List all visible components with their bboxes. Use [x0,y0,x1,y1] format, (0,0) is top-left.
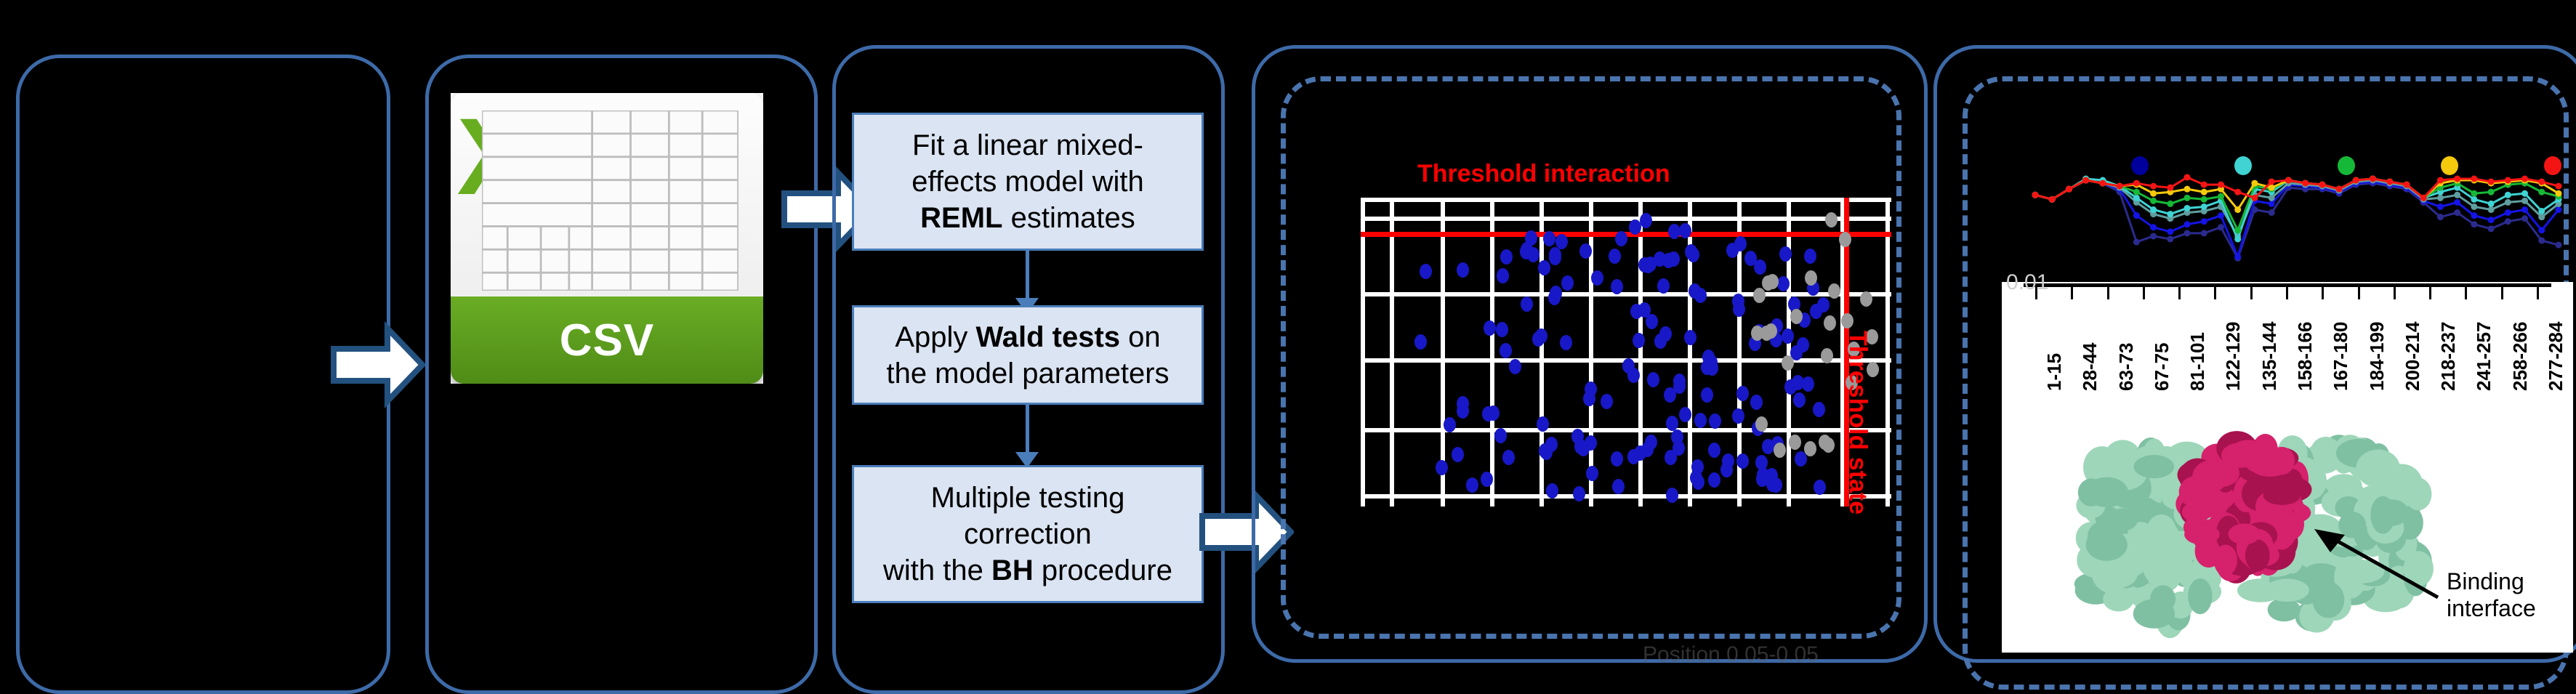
protein-surface-lump [2228,524,2260,545]
gridline-vertical [1490,198,1494,507]
protein-surface-lump [2086,529,2128,561]
peptide-marker [2234,235,2241,242]
peptide-marker [2133,189,2140,195]
step-wald-tests-text: Apply Wald tests on the model parameters [886,319,1169,392]
peptide-marker [2201,189,2207,195]
binding-interface-label: Binding interface [2447,568,2536,622]
csv-label: CSV [560,315,654,366]
figure-canvas: X [0,0,2576,687]
peptide-marker [2471,196,2477,203]
scatter-point [1482,406,1494,421]
scatter-point [1535,328,1547,344]
scatter-point [1708,472,1720,488]
scatter-point [1521,296,1533,312]
scatter-point [1466,477,1478,493]
scatter-point [1457,262,1469,278]
scatter-point [1664,387,1676,403]
protein-surface-lump [2134,455,2174,478]
peptide-marker [2133,195,2140,201]
peptide-marker [2234,189,2241,195]
peptide-tick [2071,286,2073,299]
scatter-point [1825,212,1838,227]
step-fit-model-text: Fit a linear mixed- effects model with R… [911,127,1143,236]
legend-dot-series-yellow [2441,156,2458,175]
protein-surface-lump [2108,508,2138,530]
scatter-point [1755,416,1768,432]
step-wald-tests-box: Apply Wald tests on the model parameters [852,305,1204,405]
peptide-marker [2066,186,2072,193]
peptide-marker [2184,230,2191,236]
peptide-tick [2465,286,2467,299]
protein-surface-lump [2184,524,2220,544]
scatter-point [1709,413,1721,429]
peptide-tick [2178,286,2181,299]
scatter-point [1782,328,1794,344]
scatter-point [1436,460,1448,475]
peptide-marker [2133,239,2140,246]
peptide-marker [2538,214,2545,220]
peptide-marker [2454,209,2460,216]
scatter-point [1701,360,1713,375]
scatter-point [1797,337,1809,352]
peptide-marker [2184,205,2191,211]
protein-surface-lump [2269,447,2295,475]
scatter-point [1692,475,1704,490]
peptide-tick [2322,286,2324,299]
scatter-point [1708,443,1720,458]
scatter-point [1633,333,1645,348]
protein-surface-lump [2192,461,2228,493]
legend-dot-series-navy [2131,156,2149,175]
scatter-plot: Position 0.05-0.05 [1361,198,1891,507]
peptide-marker [2167,211,2173,217]
peptide-marker [2049,196,2056,203]
connector-1 [1026,251,1029,303]
peptide-tick-label: 67-75 [2151,343,2173,392]
peptide-marker [2538,208,2545,214]
peptide-tick [2537,286,2539,299]
scatter-point [1793,392,1806,408]
legend-dot-series-green [2338,156,2355,175]
peptide-marker [2521,215,2528,222]
scatter-point [1500,343,1512,358]
spreadsheet-grid-icon [482,110,738,291]
peptide-tick-label: 81-101 [2186,332,2209,391]
peptide-marker [2454,199,2460,206]
gridline-vertical [1589,198,1593,507]
peptide-marker [2218,212,2224,219]
peptide-marker [2437,195,2444,201]
scatter-point [1549,247,1561,262]
peptide-tick-label: 135-144 [2258,322,2281,391]
protein-surface-lump [2147,530,2188,561]
scatter-point [1612,479,1625,494]
peptide-tick [2143,286,2145,299]
scatter-point [1537,416,1549,432]
scatter-point [1804,441,1816,456]
scatter-point [1668,224,1681,239]
scatter-point [1657,278,1670,294]
scatter-point [1509,359,1521,374]
peptide-marker [2234,254,2241,260]
protein-structure-image: Binding interface [2002,407,2573,653]
peptide-marker [2437,203,2444,210]
peptide-marker [2150,190,2157,197]
scatter-point [1744,251,1757,266]
scatter-point [1627,368,1640,383]
peptide-tick [2358,286,2360,299]
peptide-marker [2201,203,2207,210]
peptide-tick-label: 241-257 [2473,322,2495,391]
binding-interface-line1: Binding [2447,568,2536,595]
scatter-point [1586,466,1598,481]
protein-surface-lump [2245,539,2270,571]
scatter-point [1561,275,1574,291]
arrow-into-input [331,321,425,408]
peptide-marker [2218,224,2224,230]
scatter-point [1689,283,1701,299]
scatter-point [1496,322,1508,337]
peptide-tick-label: 28-44 [2079,343,2101,392]
csv-icon: X [451,93,763,384]
scatter-point [1583,391,1595,406]
scatter-point [1638,302,1651,318]
peptide-tick-label: 277-284 [2545,322,2567,391]
protein-surface-lump [2103,587,2134,611]
protein-surface-lump [2312,581,2344,618]
scatter-point [1611,451,1623,467]
scatter-point [1647,372,1659,387]
scatter-point [1543,231,1555,246]
connector-2 [1026,405,1029,457]
scatter-point [1687,247,1699,262]
peptide-marker [2556,190,2562,197]
scatter-point [1736,386,1749,401]
peptide-y-axis-value: 0.01 [2006,270,2048,295]
legend-dot-series-cyan [2234,156,2252,175]
peptide-marker [2201,196,2207,203]
peptide-tick [2107,286,2109,299]
peptide-marker [2437,214,2444,220]
peptide-marker [2556,242,2562,249]
step-multiple-testing-text: Multiple testing correction with the BH … [883,480,1172,589]
scatter-point [1666,416,1678,431]
peptide-marker [2184,195,2191,201]
gridline-vertical [1390,198,1394,507]
peptide-tick-label: 1-15 [2043,353,2066,391]
peptide-marker [2251,195,2258,201]
scatter-point [1615,231,1627,246]
scatter-point [1860,291,1872,307]
scatter-point [1579,243,1592,259]
scatter-point [1839,232,1851,247]
scatter-point [1497,268,1509,283]
peptide-tick-label: 63-73 [2115,343,2138,392]
scatter-point [1792,375,1804,390]
scatter-point [1573,486,1585,501]
scatter-point [1609,249,1621,264]
peptide-tick-label: 200-214 [2402,322,2424,391]
peptide-marker [2201,218,2207,225]
scatter-point [1821,348,1833,363]
peptide-marker [2032,192,2039,198]
scatter-point [1684,330,1696,345]
peptide-marker [2556,206,2562,213]
scatter-point [1452,447,1464,462]
peptide-marker [2471,221,2477,227]
peptide-marker [2471,190,2477,197]
protein-surface-lump [2188,578,2212,614]
scatter-point [1802,376,1814,392]
protein-surface-lump [2265,578,2309,602]
scatter-point [1841,313,1853,328]
peptide-marker [2150,198,2157,204]
peptide-tick-label: 167-180 [2330,322,2352,391]
peptide-series-blue [2035,180,2559,257]
peptide-marker [2184,186,2191,193]
peptide-marker [2488,201,2495,207]
peptide-marker [2167,228,2173,235]
peptide-marker [2488,189,2495,195]
scatter-point [1774,443,1786,458]
scatter-point [1732,408,1744,424]
scatter-point [1790,309,1803,324]
scatter-point [1591,270,1603,286]
peptide-tick-label: 258-266 [2509,322,2532,391]
scatter-point [1525,230,1537,246]
scatter-point [1828,283,1840,299]
peptide-marker [2538,189,2545,195]
scatter-point [1734,236,1747,251]
scatter-point [1502,450,1515,465]
scatter-point [1481,472,1493,487]
peptide-tick [2286,286,2288,299]
peptide-marker [2488,206,2495,213]
scatter-point [1560,335,1572,350]
threshold-state-label: Threshold state [1843,331,1872,515]
scatter-point [1500,249,1513,265]
scatter-point [1627,449,1640,464]
peptide-marker [2505,192,2511,198]
scatter-point [1577,441,1590,456]
scatter-point [1640,213,1652,228]
peptide-marker [2538,238,2545,244]
peptide-marker [2420,195,2427,201]
scatter-point [1667,251,1680,267]
peptide-marker [2167,235,2173,242]
peptide-marker [2521,206,2528,213]
peptide-marker [2133,212,2140,219]
peptide-tick-label: 122-129 [2222,322,2245,391]
peptide-marker [2184,221,2191,227]
scatter-point [1805,270,1817,286]
peptide-marker [2269,195,2275,201]
binding-interface-line2: interface [2447,595,2536,622]
peptide-tick-label: 158-166 [2294,322,2317,391]
peptide-marker [2234,227,2241,233]
peptide-marker [2167,185,2173,191]
protein-surface-lump [2133,599,2175,628]
scatter-point [1673,440,1685,456]
peptide-tick [2250,286,2253,299]
peptide-tick [2429,286,2431,299]
peptide-marker [2521,198,2528,204]
scatter-point [1659,326,1672,342]
scatter-point [1722,453,1734,469]
scatter-point [1777,276,1790,291]
protein-surface-lump [2214,544,2237,576]
protein-surface-lump [2356,449,2400,487]
peptide-marker [2234,206,2241,213]
obscured-annotation: Position 0.05-0.05 [1643,642,1819,667]
peptide-marker [2269,209,2275,216]
peptide-marker [2167,201,2173,207]
scatter-point [1789,435,1801,450]
scatter-point [1736,453,1749,469]
threshold-interaction-label: Threshold interaction [1417,160,1670,188]
scatter-point [1641,442,1654,457]
scatter-point [1804,249,1816,264]
step-multiple-testing-box: Multiple testing correction with the BH … [852,465,1204,603]
csv-label-band: CSV [451,296,763,384]
peptide-marker [2454,192,2460,198]
scatter-point [1813,402,1825,417]
legend-dot-series-red [2544,156,2561,175]
peptide-tick [2394,286,2396,299]
peptide-legend [2021,156,2573,185]
peptide-marker [2150,233,2157,239]
scatter-point [1814,480,1826,495]
scatter-point [1701,387,1713,403]
peptide-marker [2218,193,2224,200]
peptide-marker [2488,225,2495,232]
gridline-vertical [1885,198,1890,507]
protein-surface-lump [2263,486,2301,505]
peptide-tick [2501,286,2503,299]
step-fit-model-box: Fit a linear mixed- effects model with R… [852,113,1204,251]
scatter-point [1694,413,1707,428]
protein-surface-lump [2374,499,2409,526]
gridline-vertical [1539,198,1544,507]
scatter-point [1666,488,1678,503]
scatter-point [1644,257,1657,272]
protein-surface-lump [2325,474,2362,496]
scatter-point [1753,288,1766,303]
peptide-marker [2538,227,2545,233]
scatter-point [1765,323,1777,339]
protein-surface-lump [2085,477,2128,507]
peptide-marker [2471,203,2477,210]
peptide-marker [2505,209,2511,216]
peptide-tick-label: 184-199 [2366,322,2388,391]
scatter-point [1420,264,1432,279]
peptide-marker [2150,224,2157,230]
scatter-point [1824,315,1836,331]
scatter-point [1817,297,1830,312]
scatter-point [1691,459,1704,475]
peptide-tick-label: 218-237 [2437,322,2460,391]
scatter-point [1494,428,1507,443]
peptide-marker [2505,199,2511,206]
peptide-marker [2336,186,2343,193]
csv-file-icon-card: X [451,93,763,384]
scatter-point [1601,394,1613,409]
scatter-point [1538,260,1550,275]
scatter-point [1414,334,1427,350]
peptide-marker [2505,218,2511,225]
protein-surface-lump [2404,477,2431,510]
scatter-point [1679,223,1691,238]
peptide-marker [2521,190,2528,197]
scatter-point [1782,355,1794,371]
peptide-tick [2214,286,2216,299]
gridline-vertical [1361,198,1365,507]
peptide-marker [2150,206,2157,213]
scatter-point [1750,395,1763,410]
peptide-marker [2488,217,2495,223]
peptide-marker [2269,201,2275,207]
protein-surface-lump [2338,512,2366,538]
peptide-marker [2471,212,2477,219]
scatter-point [1733,302,1745,317]
scatter-point [1444,417,1456,432]
peptide-marker [2201,230,2207,236]
